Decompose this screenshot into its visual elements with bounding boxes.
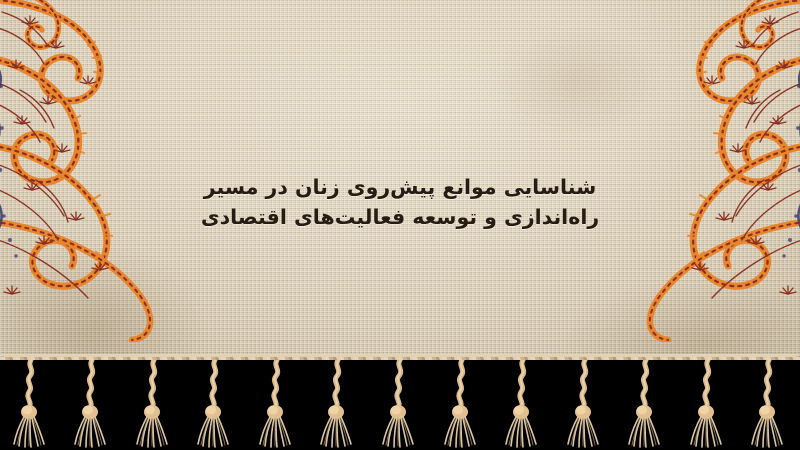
tassel	[70, 360, 114, 450]
tassel	[193, 360, 237, 450]
tassel	[9, 360, 53, 450]
tassel	[501, 360, 545, 450]
tassel	[624, 360, 668, 450]
tassel	[255, 360, 299, 450]
slide-canvas: شناسایی موانع پیش‌روی زنان در مسیر راه‌ا…	[0, 0, 800, 450]
title-line-1: شناسایی موانع پیش‌روی زنان در مسیر	[0, 172, 800, 202]
tassel-fringe	[0, 360, 800, 450]
tassel	[440, 360, 484, 450]
tassel	[378, 360, 422, 450]
paisley-ornament-left	[0, 0, 242, 342]
tassel	[316, 360, 360, 450]
paisley-ornament-right	[558, 0, 800, 342]
tassel	[132, 360, 176, 450]
slide-title: شناسایی موانع پیش‌روی زنان در مسیر راه‌ا…	[0, 172, 800, 232]
tassel	[747, 360, 791, 450]
title-line-2: راه‌اندازی و توسعه فعالیت‌های اقتصادی	[0, 202, 800, 232]
tassel	[686, 360, 730, 450]
fabric-panel: شناسایی موانع پیش‌روی زنان در مسیر راه‌ا…	[0, 0, 800, 372]
tassel	[563, 360, 607, 450]
